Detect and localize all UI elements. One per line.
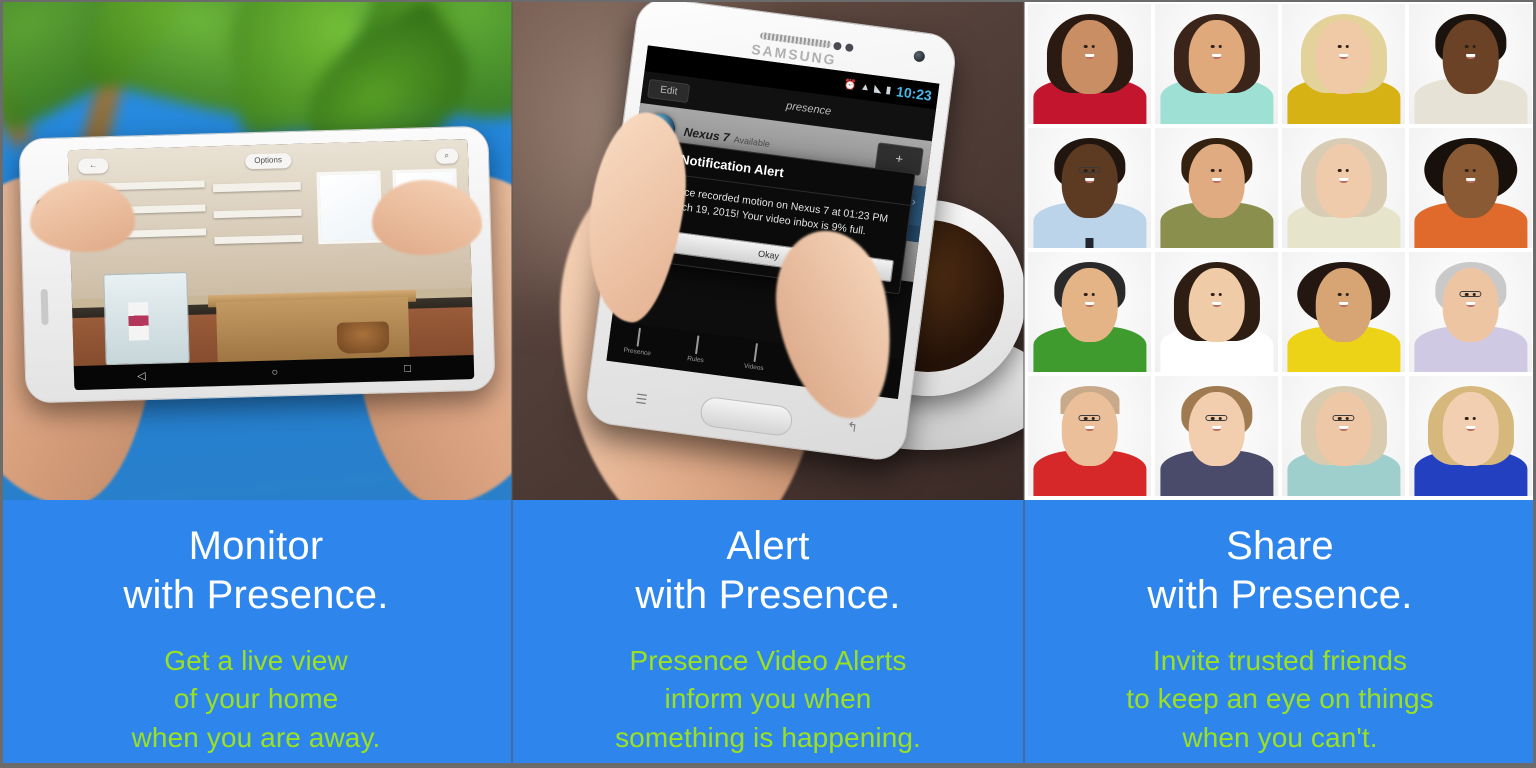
portrait-tile[interactable] (1028, 128, 1151, 248)
dish-towel (128, 302, 149, 341)
portrait-tile[interactable] (1028, 4, 1151, 124)
home-button[interactable] (699, 396, 794, 438)
eye (1338, 169, 1341, 172)
portrait-face (1315, 144, 1372, 218)
smile (1085, 178, 1094, 183)
portrait-tile[interactable] (1282, 376, 1405, 496)
portrait-face (1188, 20, 1245, 94)
nav-back-icon[interactable]: ◁ (137, 371, 146, 382)
glasses-icon (1459, 291, 1482, 298)
share-sub-line2: to keep an eye on things (1024, 680, 1536, 719)
necktie (1086, 238, 1094, 248)
eye (1084, 45, 1087, 48)
dialog-title: Notification Alert (679, 152, 784, 180)
portrait-tile[interactable] (1409, 376, 1532, 496)
portrait-tile[interactable] (1028, 252, 1151, 372)
eye (1346, 45, 1349, 48)
portrait-tile[interactable] (1028, 376, 1151, 496)
portrait-tile[interactable] (1155, 4, 1278, 124)
smile (1085, 426, 1094, 431)
portrait-tile[interactable] (1155, 128, 1278, 248)
wifi-icon: ▲ (860, 81, 871, 93)
eye (1473, 417, 1476, 420)
kitchen-camera-feed (68, 139, 475, 390)
eye (1473, 169, 1476, 172)
share-subtext: Invite trusted friends to keep an eye on… (1024, 620, 1536, 758)
eye (1338, 293, 1341, 296)
device-name: Nexus 7 (683, 125, 730, 145)
alert-heading-line2: with Presence. (512, 571, 1024, 620)
tab-rules[interactable]: Rules (665, 329, 729, 376)
landscape-phone: ← Options ⌕ ◁ ○ □ (18, 125, 495, 403)
smile (1212, 302, 1221, 307)
eye (1465, 45, 1468, 48)
status-clock: 10:23 (895, 83, 933, 104)
rules-icon (695, 335, 699, 354)
zoom-pill-button[interactable]: ⌕ (435, 148, 458, 163)
eye (1465, 169, 1468, 172)
portrait-face (1188, 144, 1245, 218)
tab-label: Presence (608, 345, 667, 360)
portrait-face (1315, 392, 1372, 466)
portrait-face (1061, 144, 1118, 218)
menu-softkey-icon[interactable]: ☰ (635, 391, 649, 408)
portrait-tile[interactable] (1282, 4, 1405, 124)
portrait-tile[interactable] (1409, 4, 1532, 124)
monitor-sub-line1: Get a live view (0, 642, 512, 681)
smile (1212, 178, 1221, 183)
portrait-face (1442, 392, 1499, 466)
share-sub-line3: when you can't. (1024, 719, 1536, 758)
monitor-sub-line2: of your home (0, 680, 512, 719)
eye (1211, 169, 1214, 172)
portrait-face (1061, 268, 1118, 342)
share-sub-line1: Invite trusted friends (1024, 642, 1536, 681)
alert-heading: Alert with Presence. (512, 500, 1024, 620)
eye (1219, 45, 1222, 48)
eye (1346, 293, 1349, 296)
smile (1466, 54, 1475, 59)
glasses-icon (1332, 415, 1355, 422)
smile (1339, 54, 1348, 59)
live-view-screen: ← Options ⌕ ◁ ○ □ (68, 139, 475, 390)
monitor-heading-line1: Monitor (0, 522, 512, 571)
alarm-icon: ⏰ (843, 79, 857, 92)
portrait-face (1442, 268, 1499, 342)
frame-edge-top (0, 0, 1536, 2)
portrait-face (1188, 392, 1245, 466)
smile (1339, 426, 1348, 431)
panel-divider (511, 0, 513, 768)
edit-button[interactable]: Edit (647, 78, 690, 102)
monitor-subtext: Get a live view of your home when you ar… (0, 620, 512, 758)
options-pill-button[interactable]: Options (245, 153, 291, 169)
smile (1466, 178, 1475, 183)
portrait-tile[interactable] (1282, 252, 1405, 372)
panel-divider (1023, 0, 1025, 768)
portrait-tile[interactable] (1409, 252, 1532, 372)
nav-recents-icon[interactable]: □ (404, 363, 411, 374)
kitchen-window (316, 170, 382, 244)
smile (1466, 302, 1475, 307)
alert-heading-line1: Alert (512, 522, 1024, 571)
wicker-basket (337, 321, 390, 354)
nav-home-icon[interactable]: ○ (271, 367, 278, 378)
panel-alert: SAMSUNG ▣ ⏰ ▲ ◣ ▮ 10:23 Edit presence (512, 0, 1024, 768)
three-panel-promo-board: ← Options ⌕ ◁ ○ □ Monitor with Presence. (0, 0, 1536, 768)
share-photo (1024, 0, 1536, 500)
videos-icon (753, 343, 757, 362)
frame-edge-bottom (0, 763, 1536, 768)
portrait-tile[interactable] (1282, 128, 1405, 248)
portrait-face (1188, 268, 1245, 342)
front-camera (913, 50, 925, 62)
alert-sub-line3: something is happening. (512, 719, 1024, 758)
share-heading: Share with Presence. (1024, 500, 1536, 620)
eye (1346, 169, 1349, 172)
sensor-dots (833, 42, 864, 54)
monitor-sub-line3: when you are away. (0, 719, 512, 758)
smile (1339, 302, 1348, 307)
portrait-face (1442, 144, 1499, 218)
faces-grid (1024, 0, 1536, 500)
smile (1212, 426, 1221, 431)
back-pill-button[interactable]: ← (78, 158, 108, 174)
tab-label: Rules (666, 352, 725, 367)
eye (1092, 293, 1095, 296)
portrait-tile[interactable] (1155, 252, 1278, 372)
eye (1473, 45, 1476, 48)
panel-share: Share with Presence. Invite trusted frie… (1024, 0, 1536, 768)
portrait-tile[interactable] (1409, 128, 1532, 248)
eye (1084, 293, 1087, 296)
smile (1466, 426, 1475, 431)
share-heading-line1: Share (1024, 522, 1536, 571)
eye (1338, 45, 1341, 48)
tab-label: Videos (724, 360, 783, 375)
portrait-face (1061, 392, 1118, 466)
eye (1211, 45, 1214, 48)
battery-icon: ▮ (885, 84, 892, 96)
alert-subtext: Presence Video Alerts inform you when so… (512, 620, 1024, 758)
monitor-heading: Monitor with Presence. (0, 500, 512, 620)
panel-monitor: ← Options ⌕ ◁ ○ □ Monitor with Presence. (0, 0, 512, 768)
smile (1339, 178, 1348, 183)
portrait-face (1442, 20, 1499, 94)
portrait-face (1315, 268, 1372, 342)
back-softkey-icon[interactable]: ↰ (846, 419, 859, 436)
share-caption: Share with Presence. Invite trusted frie… (1024, 500, 1536, 768)
alert-caption: Alert with Presence. Presence Video Aler… (512, 500, 1024, 768)
monitor-heading-line2: with Presence. (0, 571, 512, 620)
portrait-tile[interactable] (1155, 376, 1278, 496)
alert-sub-line1: Presence Video Alerts (512, 642, 1024, 681)
presence-icon (637, 328, 641, 347)
smile (1212, 54, 1221, 59)
glasses-icon (1078, 167, 1101, 174)
smile (1085, 54, 1094, 59)
alert-photo: SAMSUNG ▣ ⏰ ▲ ◣ ▮ 10:23 Edit presence (512, 0, 1024, 500)
smile (1085, 302, 1094, 307)
eye (1219, 293, 1222, 296)
share-heading-line2: with Presence. (1024, 571, 1536, 620)
glasses-icon (1205, 415, 1228, 422)
monitor-caption: Monitor with Presence. Get a live view o… (0, 500, 512, 768)
tab-videos[interactable]: Videos (723, 336, 787, 383)
monitor-photo: ← Options ⌕ ◁ ○ □ (0, 0, 512, 500)
eye (1219, 169, 1222, 172)
signal-icon: ◣ (874, 83, 883, 95)
glasses-icon (1078, 415, 1101, 422)
alert-sub-line2: inform you when (512, 680, 1024, 719)
eye (1092, 45, 1095, 48)
portrait-face (1061, 20, 1118, 94)
frame-edge-left (0, 0, 3, 768)
eye (1465, 417, 1468, 420)
eye (1211, 293, 1214, 296)
portrait-face (1315, 20, 1372, 94)
device-status: Available (733, 134, 770, 149)
tab-presence[interactable]: Presence (606, 321, 670, 368)
